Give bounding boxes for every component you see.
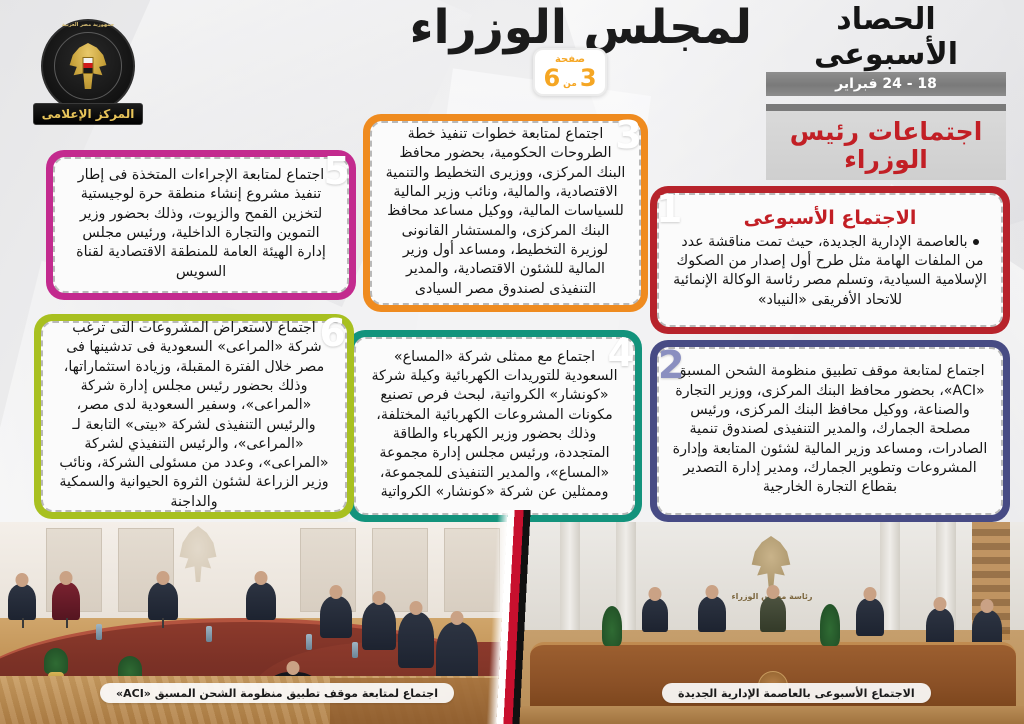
water-bottle	[206, 626, 212, 642]
microphone-icon	[66, 618, 68, 628]
bullet-icon	[973, 239, 979, 245]
card-text-1: بالعاصمة الإدارية الجديدة، حيث تمت مناقش…	[671, 233, 989, 310]
attendee	[642, 598, 668, 632]
attendee	[320, 596, 352, 638]
seal-icon: جمهورية مصر العربية رئاسة مجلس الوزراء	[41, 19, 135, 113]
header: لمجلس الوزراء الحصاد الأسبوعى 18 - 24 فب…	[0, 0, 1024, 104]
plant-decor	[820, 604, 840, 646]
seal-inner-ring: جمهورية مصر العربية رئاسة مجلس الوزراء	[54, 32, 122, 100]
card-title-1: الاجتماع الأسبوعى	[671, 208, 989, 230]
card-number-2: 2	[658, 346, 684, 384]
card-body: اجتماع لاستعراض المشروعات التى ترغب شركة…	[41, 321, 347, 512]
meeting-card-3[interactable]: 3 اجتماع لمتابعة خطوات تنفيذ خطة الطروحا…	[363, 114, 648, 312]
card-number-5: 5	[324, 152, 350, 190]
attendee	[698, 596, 726, 632]
page-number-badge: صفحة 3 من 6	[533, 48, 607, 96]
card-body: اجتماع مع ممثلى شركة «المساع» السعودية ل…	[354, 337, 635, 515]
card-text-4: اجتماع مع ممثلى شركة «المساع» السعودية ل…	[368, 348, 621, 503]
card-number-4: 4	[608, 334, 634, 372]
water-bottle	[352, 642, 358, 658]
logo-ribbon-label: المركز الإعلامى	[33, 103, 143, 125]
card-text-1-content: بالعاصمة الإدارية الجديدة، حيث تمت مناقش…	[673, 234, 987, 308]
photo-caption-right: الاجتماع الأسبوعى بالعاصمة الإدارية الجد…	[662, 683, 931, 703]
brand-line-2: الأسبوعى	[766, 37, 1006, 72]
attendee	[246, 582, 276, 620]
attendee	[362, 602, 396, 650]
photo-caption-left: اجتماع لمتابعة موقف تطبيق منظومة الشحن ا…	[100, 683, 454, 703]
plant-decor	[602, 606, 622, 646]
water-bottle	[96, 624, 102, 640]
card-body: اجتماع لمتابعة خطوات تنفيذ خطة الطروحات …	[370, 121, 641, 305]
attendee	[760, 596, 786, 632]
meeting-card-1[interactable]: 1 الاجتماع الأسبوعى بالعاصمة الإدارية ال…	[650, 186, 1010, 334]
attendee	[856, 598, 884, 636]
egypt-flag-icon	[83, 57, 94, 74]
card-body: اجتماع لمتابعة الإجراءات المتخذة فى إطار…	[53, 157, 349, 293]
card-number-1: 1	[656, 190, 682, 228]
page-badge-current: 3	[580, 66, 597, 90]
card-body: الاجتماع الأسبوعى بالعاصمة الإدارية الجد…	[657, 193, 1003, 327]
page-badge-numbers: 3 من 6	[543, 66, 596, 90]
meeting-card-4[interactable]: 4 اجتماع مع ممثلى شركة «المساع» السعودية…	[347, 330, 642, 522]
wall-column	[560, 522, 580, 630]
page-badge-of: من	[563, 80, 577, 89]
date-range-bar: 18 - 24 فبراير	[766, 72, 1006, 96]
microphone-icon	[22, 618, 24, 628]
meeting-card-6[interactable]: 6 اجتماع لاستعراض المشروعات التى ترغب شر…	[34, 314, 354, 519]
card-text-6: اجتماع لاستعراض المشروعات التى ترغب شركة…	[55, 319, 333, 512]
attendee	[148, 582, 178, 620]
infographic-page: لمجلس الوزراء الحصاد الأسبوعى 18 - 24 فب…	[0, 0, 1024, 724]
attendee	[398, 612, 434, 668]
card-number-3: 3	[616, 116, 642, 154]
card-text-2: اجتماع لمتابعة موقف تطبيق منظومة الشحن ا…	[671, 362, 989, 497]
wall-crest-icon	[176, 526, 220, 582]
page-badge-total: 6	[543, 66, 560, 90]
photo-right-floor	[520, 706, 1024, 724]
section-heading-text: اجتماعات رئيس الوزراء	[766, 118, 1006, 173]
card-text-3: اجتماع لمتابعة خطوات تنفيذ خطة الطروحات …	[384, 125, 627, 299]
eagle-of-saladin-icon	[68, 43, 108, 89]
plant-decor	[44, 648, 68, 674]
section-heading: اجتماعات رئيس الوزراء	[766, 104, 1006, 180]
seal-ring-text-top: جمهورية مصر العربية	[55, 22, 121, 28]
meeting-card-2[interactable]: 2 اجتماع لمتابعة موقف تطبيق منظومة الشحن…	[650, 340, 1010, 522]
card-number-6: 6	[320, 314, 346, 352]
page-title: لمجلس الوزراء	[410, 2, 753, 54]
attendee	[52, 582, 80, 620]
wall-panel	[444, 528, 500, 612]
meeting-card-5[interactable]: 5 اجتماع لمتابعة الإجراءات المتخذة فى إط…	[46, 150, 356, 300]
microphone-icon	[162, 618, 164, 628]
brand-line-1: الحصاد	[766, 2, 1006, 37]
card-body: اجتماع لمتابعة موقف تطبيق منظومة الشحن ا…	[657, 347, 1003, 515]
cabinet-media-center-logo: جمهورية مصر العربية رئاسة مجلس الوزراء ا…	[33, 17, 143, 127]
brand-block: الحصاد الأسبوعى	[766, 2, 1006, 73]
card-text-5: اجتماع لمتابعة الإجراءات المتخذة فى إطار…	[67, 166, 335, 282]
attendee	[8, 584, 36, 620]
water-bottle	[306, 634, 312, 650]
page-badge-label: صفحة	[555, 55, 585, 65]
